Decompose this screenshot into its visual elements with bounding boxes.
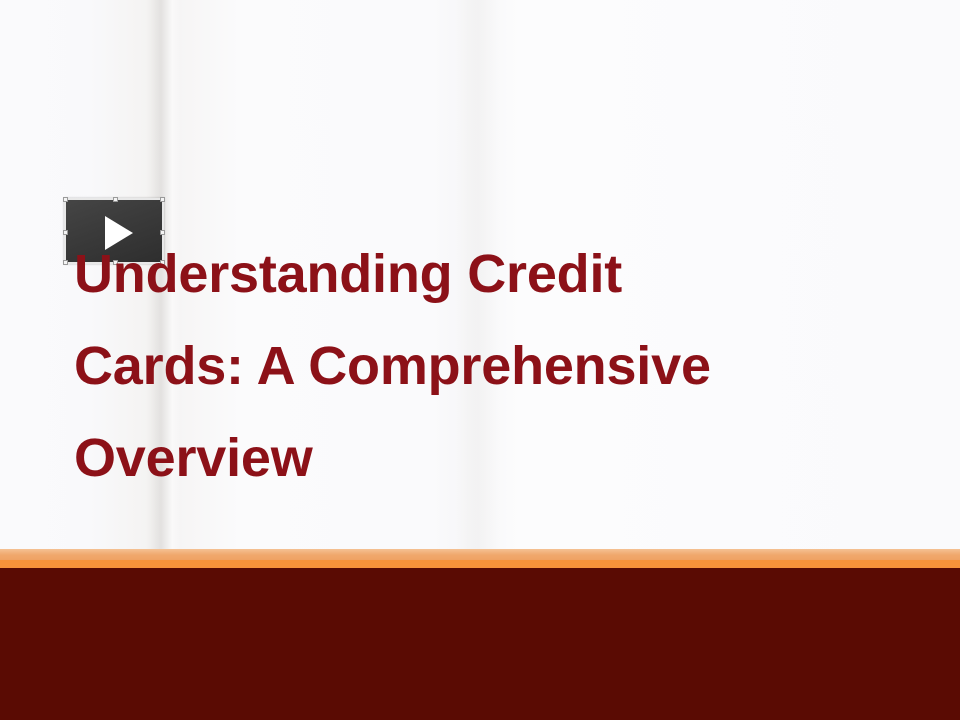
- slide-title-line-1: Understanding Credit: [74, 228, 886, 320]
- footer-band-maroon: [0, 568, 960, 720]
- resize-handle-middle-left[interactable]: [63, 230, 68, 235]
- resize-handle-bottom-left[interactable]: [63, 260, 68, 265]
- slide-title-line-3: Overview: [74, 412, 886, 504]
- resize-handle-top-right[interactable]: [160, 197, 165, 202]
- resize-handle-top-left[interactable]: [63, 197, 68, 202]
- resize-handle-top-center[interactable]: [113, 197, 118, 202]
- slide-title-line-2: Cards: A Comprehensive: [74, 320, 886, 412]
- accent-band-orange: [0, 560, 960, 568]
- accent-band-light-orange: [0, 549, 960, 560]
- presentation-slide: Understanding Credit Cards: A Comprehens…: [0, 0, 960, 720]
- slide-title[interactable]: Understanding Credit Cards: A Comprehens…: [74, 228, 886, 504]
